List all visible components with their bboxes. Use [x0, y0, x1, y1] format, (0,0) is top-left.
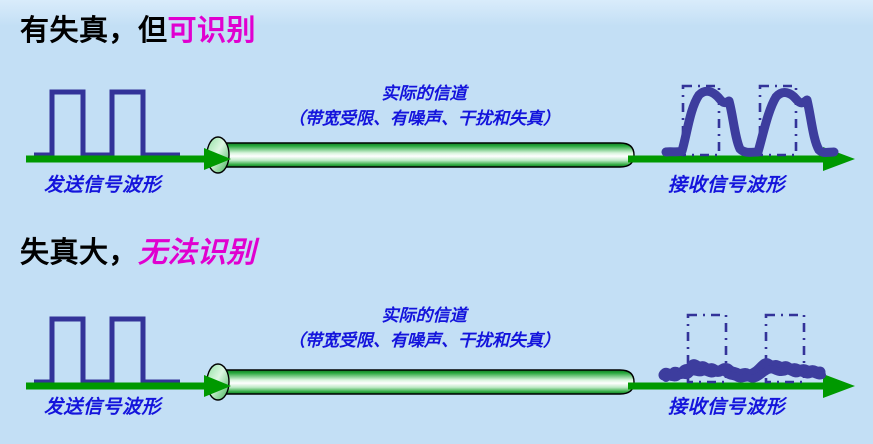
slide-canvas: 有失真，但可识别 实际的信道 （带宽受限、有噪声、干扰和失真）	[0, 0, 873, 444]
channel-pipe-icon	[218, 370, 634, 394]
square-wave-icon	[34, 92, 180, 155]
distorted-wave-icon	[666, 91, 834, 152]
square-wave-icon	[34, 319, 180, 382]
channel-pipe-icon	[218, 143, 634, 167]
sent-signal-label-bottom: 发送信号波形	[44, 392, 161, 419]
received-signal-label-bottom: 接收信号波形	[668, 392, 785, 419]
section-distorted-unrecognizable: 失真大，无法识别 实际的信道 （带宽受限、有噪声、干扰和失真） 发送信号波形	[0, 222, 873, 444]
sent-signal-label-top: 发送信号波形	[44, 170, 161, 197]
arrow-head-right-icon	[823, 374, 855, 398]
received-signal-label-top: 接收信号波形	[668, 170, 785, 197]
section-distorted-recognizable: 有失真，但可识别 实际的信道 （带宽受限、有噪声、干扰和失真）	[0, 0, 873, 222]
